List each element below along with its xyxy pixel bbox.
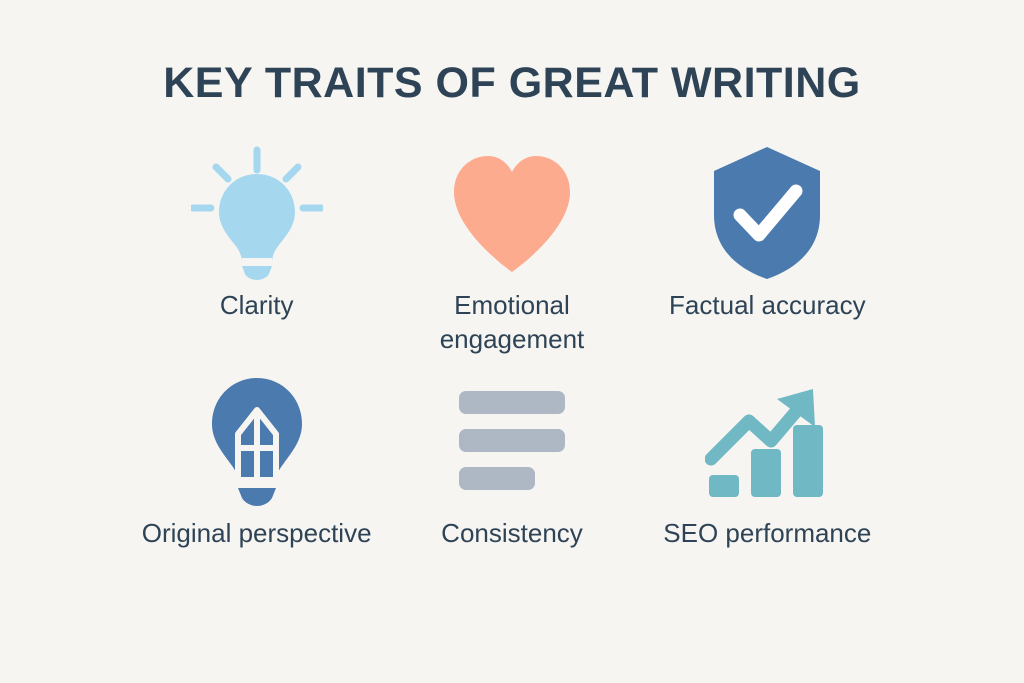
page-title: KEY TRAITS OF GREAT WRITING (163, 62, 861, 105)
trait-label: Original perspective (142, 517, 372, 551)
growth-chart-icon (705, 371, 829, 511)
lightbulb-pencil-icon (202, 371, 312, 511)
trait-label: Factual accuracy (669, 289, 866, 323)
trait-card-original-perspective: Original perspective (132, 371, 381, 599)
trait-card-consistency: Consistency (387, 371, 636, 599)
lightbulb-icon (191, 143, 323, 283)
shield-check-icon (708, 143, 826, 283)
infographic-poster: KEY TRAITS OF GREAT WRITING (0, 0, 1024, 683)
trait-label: Emotional engagement (397, 289, 627, 357)
trait-label: Consistency (441, 517, 583, 551)
trait-card-emotional-engagement: Emotional engagement (387, 143, 636, 371)
heart-icon (446, 143, 578, 283)
trait-card-seo-performance: SEO performance (643, 371, 892, 599)
stacked-bars-icon (457, 371, 567, 511)
traits-grid: Clarity Emotional engagement Factual acc… (132, 143, 892, 599)
trait-card-factual-accuracy: Factual accuracy (643, 143, 892, 371)
trait-card-clarity: Clarity (132, 143, 381, 371)
trait-label: Clarity (220, 289, 294, 323)
trait-label: SEO performance (663, 517, 871, 551)
